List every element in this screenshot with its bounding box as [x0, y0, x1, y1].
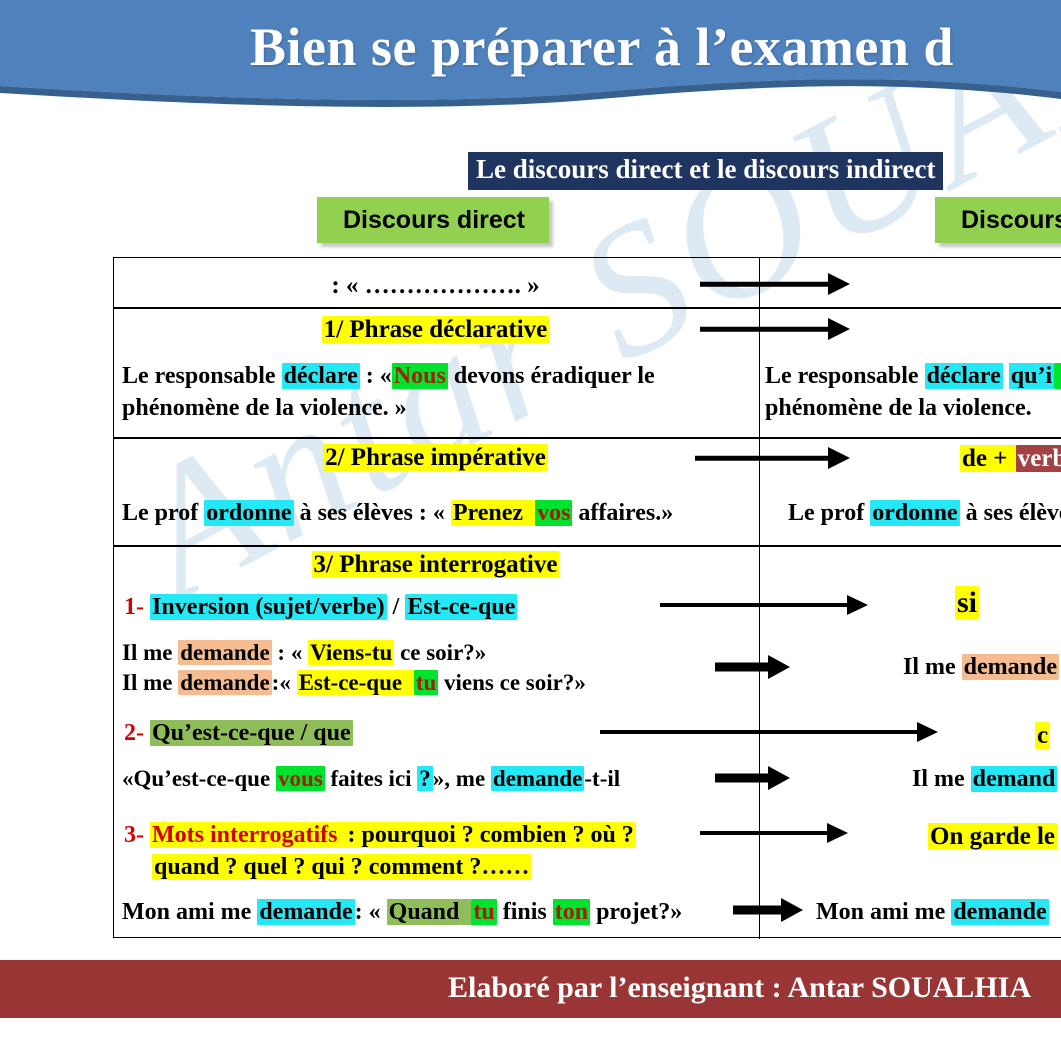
- row1-left-example: Le responsable déclare : «Nous devons ér…: [122, 361, 752, 424]
- verb-chip: ordonne: [870, 500, 959, 526]
- arrow-row2: [695, 447, 850, 469]
- item1-right-rule: si: [955, 583, 979, 623]
- ce-que-chip: c: [1035, 722, 1050, 749]
- item1-right-example: Il me demande: [903, 652, 1059, 684]
- t: affaires.»: [572, 500, 673, 526]
- estceque-chip: Est-ce-que: [405, 594, 517, 620]
- verb-chip: demande: [257, 899, 354, 925]
- item-number: 3-: [124, 822, 144, 848]
- t: : «: [355, 899, 387, 925]
- t: devons éradiquer le: [448, 363, 655, 389]
- slide-canvas: Antar SOUALHIA Bien se préparer à l’exam…: [0, 0, 1061, 1061]
- mots-list-line2: quand ? quel ? qui ? comment ?……: [152, 854, 531, 880]
- row2-right-example: Le prof ordonne à ses élève: [788, 498, 1061, 530]
- inversion-chip: Inversion (sujet/verbe): [150, 594, 387, 620]
- footer-credit: Elaboré par l’enseignant : Antar SOUALHI…: [0, 971, 1061, 1005]
- verb-chip: ordonne: [204, 500, 293, 526]
- table-row-divider: [114, 307, 1061, 309]
- t: à ses élève: [960, 500, 1061, 526]
- t: à ses élèves : «: [294, 500, 451, 526]
- row2-right-rule: de + verb: [960, 442, 1061, 475]
- t: projet?»: [590, 899, 682, 925]
- row1-right-example: Le responsable déclare qu’i phénomène de…: [765, 361, 1061, 424]
- arrow-item2-example: [715, 766, 790, 790]
- t: : «: [272, 640, 308, 665]
- conjunction-chip: qu’i: [1009, 363, 1054, 389]
- item-number: 1-: [124, 594, 144, 620]
- arrow-row1: [700, 318, 850, 340]
- verb-chip: demande: [491, 766, 584, 791]
- t: viens ce soir?»: [438, 670, 586, 695]
- page-title: Bien se préparer à l’examen d: [0, 16, 1061, 78]
- question-word-chip: Quand: [387, 899, 462, 925]
- question-mark-chip: ?: [417, 766, 433, 791]
- t: : «: [360, 363, 392, 389]
- arrow-item3-rule: [700, 822, 848, 844]
- topic-banner: Le discours direct et le discours indire…: [468, 152, 943, 190]
- row2-left-heading-label: 2/ Phrase impérative: [323, 444, 548, 471]
- determiner-chip: ton: [553, 899, 590, 925]
- determiner-chip: vos: [535, 500, 572, 526]
- rule-part-a: de +: [960, 445, 1016, 472]
- question-chip: Viens-tu: [308, 640, 394, 665]
- mots-interrogatifs-chip: Mots interrogatifs: [150, 822, 340, 848]
- arrow-row0: [700, 273, 850, 295]
- pronoun-chip: tu: [414, 670, 438, 695]
- table-row-divider: [114, 545, 1061, 547]
- t: Il me: [912, 766, 971, 792]
- verb-chip: demande: [951, 899, 1048, 925]
- arrow-item1-example: [715, 655, 790, 679]
- pronoun-chip: vous: [276, 766, 325, 791]
- row1-left-heading: 1/ Phrase déclarative: [113, 313, 758, 346]
- t: Il me: [903, 654, 962, 680]
- pronoun-chip: Nous: [392, 363, 448, 389]
- row3-left-heading-label: 3/ Phrase interrogative: [312, 551, 560, 578]
- item2-right-example: Il me demand: [912, 764, 1057, 796]
- table-row-divider: [114, 437, 1061, 439]
- quesceque-chip: Qu’est-ce-que / que: [150, 720, 353, 746]
- t: -t-il: [584, 766, 620, 791]
- verb-chip: demand: [971, 766, 1058, 792]
- t: Le prof: [122, 500, 204, 526]
- item-number: 2-: [124, 720, 144, 746]
- row0-left-pattern: : « ………………. »: [113, 269, 758, 302]
- t: «Qu’est-ce-que: [122, 766, 276, 791]
- row3-item3-example: Mon ami me demande: « Quand tu finis ton…: [122, 897, 682, 929]
- t: Le prof: [788, 500, 870, 526]
- row3-item3-heading: 3- Mots interrogatifs : pourquoi ? combi…: [124, 820, 636, 883]
- column-heading-direct[interactable]: Discours direct: [317, 197, 549, 243]
- verb-chip: demande: [178, 640, 271, 665]
- t: Mon ami me: [816, 899, 951, 925]
- arrow-item2-rule: [600, 721, 938, 743]
- row3-item1-examples: Il me demande : « Viens-tu ce soir?» Il …: [122, 638, 586, 699]
- column-heading-indirect-label: Discours: [961, 206, 1061, 235]
- row2-left-example: Le prof ordonne à ses élèves : « Prenez …: [122, 498, 752, 530]
- verb-chip: demande: [178, 670, 271, 695]
- item3-right-rule: On garde le: [928, 820, 1057, 853]
- row1-left-heading-label: 1/ Phrase déclarative: [322, 316, 550, 343]
- row2-left-heading: 2/ Phrase impérative: [113, 441, 758, 474]
- question-chip: Est-ce-que: [297, 670, 404, 695]
- t: Il me: [122, 670, 178, 695]
- t: :«: [272, 670, 297, 695]
- verb-chip: déclare: [282, 363, 360, 389]
- mots-list-line1: : pourquoi ? combien ? où ?: [340, 822, 636, 848]
- t: phénomène de la violence. »: [122, 395, 407, 421]
- t: Mon ami me: [122, 899, 257, 925]
- column-heading-indirect[interactable]: Discours: [935, 197, 1061, 243]
- t: /: [387, 594, 406, 620]
- pronoun-chip: tu: [471, 899, 496, 925]
- t: Le responsable: [765, 363, 925, 389]
- rule-part-b: verb: [1016, 445, 1061, 472]
- row3-item2-heading: 2- Qu’est-ce-que / que: [124, 718, 353, 750]
- item3-right-example: Mon ami me demande: [816, 897, 1049, 929]
- row3-item1-heading: 1- Inversion (sujet/verbe) / Est-ce-que: [124, 592, 517, 624]
- t: », me: [433, 766, 491, 791]
- row3-left-heading: 3/ Phrase interrogative: [113, 548, 758, 581]
- verb-chip: demande: [962, 654, 1059, 680]
- imperative-chip: Prenez: [451, 500, 525, 526]
- t: finis: [497, 899, 553, 925]
- verb-chip: déclare: [925, 363, 1003, 389]
- item2-right-rule: c: [1035, 719, 1050, 752]
- arrow-item3-example: [733, 898, 803, 922]
- column-heading-direct-label: Discours direct: [343, 206, 525, 235]
- t: Il me: [122, 640, 178, 665]
- arrow-item1-rule: [660, 594, 868, 616]
- si-chip: si: [955, 586, 979, 619]
- t: phénomène de la violence.: [765, 395, 1032, 421]
- t: Le responsable: [122, 363, 282, 389]
- on-garde-chip: On garde le: [928, 823, 1057, 850]
- t: ce soir?»: [394, 640, 486, 665]
- t: faites ici: [325, 766, 418, 791]
- row3-item2-example: «Qu’est-ce-que vous faites ici ?», me de…: [122, 764, 620, 794]
